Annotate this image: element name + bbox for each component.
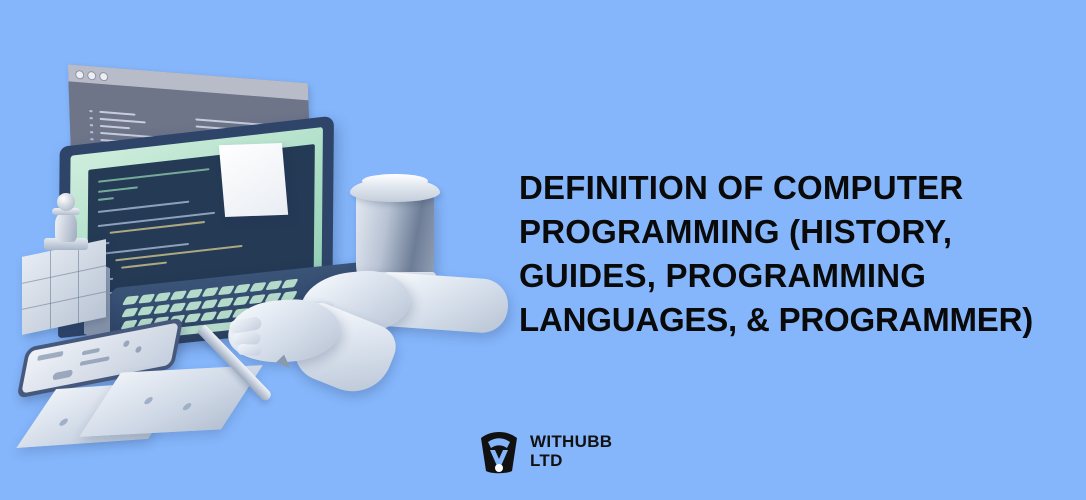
sticky-note [219, 143, 288, 217]
withubb-shield-w-mark-icon [477, 428, 521, 474]
brand-logo-text: WITHUBB LTD [530, 432, 612, 470]
brand-logo[interactable]: WITHUBB LTD [477, 428, 612, 474]
page-title-line-2: PROGRAMMING (HISTORY, [519, 210, 1079, 254]
page-title: DEFINITION OF COMPUTER PROGRAMMING (HIST… [519, 166, 1079, 342]
brand-name-line-1: WITHUBB [530, 432, 612, 451]
terminal-close-dot-icon [75, 70, 84, 80]
blog-header-banner: DEFINITION OF COMPUTER PROGRAMMING (HIST… [0, 0, 1086, 500]
chess-pawn-body [55, 212, 77, 242]
programmer-desk-illustration [0, 0, 520, 500]
coffee-cup-lid-top [362, 174, 428, 188]
page-title-line-3: GUIDES, PROGRAMMING [519, 254, 1079, 298]
page-title-line-4: LANGUAGES, & PROGRAMMER) [519, 298, 1079, 342]
page-title-line-1: DEFINITION OF COMPUTER [519, 166, 1079, 210]
terminal-maximize-dot-icon [99, 72, 108, 82]
brand-name-line-2: LTD [530, 451, 612, 470]
chess-pawn-head [57, 193, 75, 211]
terminal-minimize-dot-icon [87, 71, 96, 81]
